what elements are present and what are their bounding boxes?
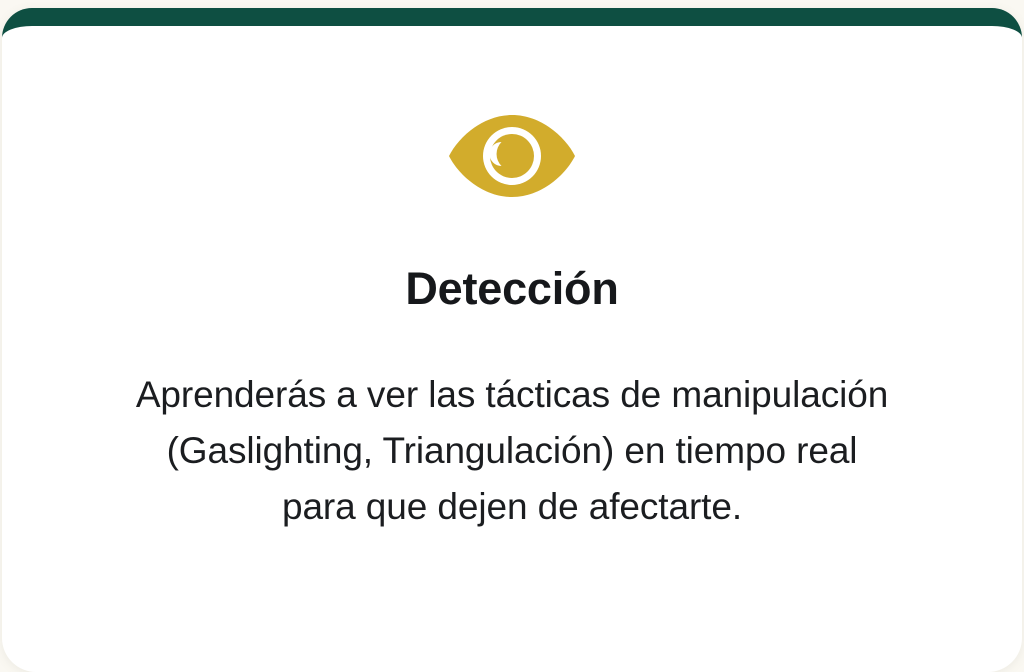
eye-icon [446,112,578,200]
description-line-1: Aprenderás a ver las tácticas de manipul… [52,367,972,423]
page-background: Detección Aprenderás a ver las tácticas … [0,0,1024,665]
feature-card: Detección Aprenderás a ver las tácticas … [2,8,1022,672]
card-description: Aprenderás a ver las tácticas de manipul… [52,367,972,536]
description-line-3: para que dejen de afectarte. [52,479,972,535]
card-content: Detección Aprenderás a ver las tácticas … [2,26,1022,672]
page-title: Detección [405,264,618,314]
description-line-2: (Gaslighting, Triangulación) en tiempo r… [52,423,972,479]
